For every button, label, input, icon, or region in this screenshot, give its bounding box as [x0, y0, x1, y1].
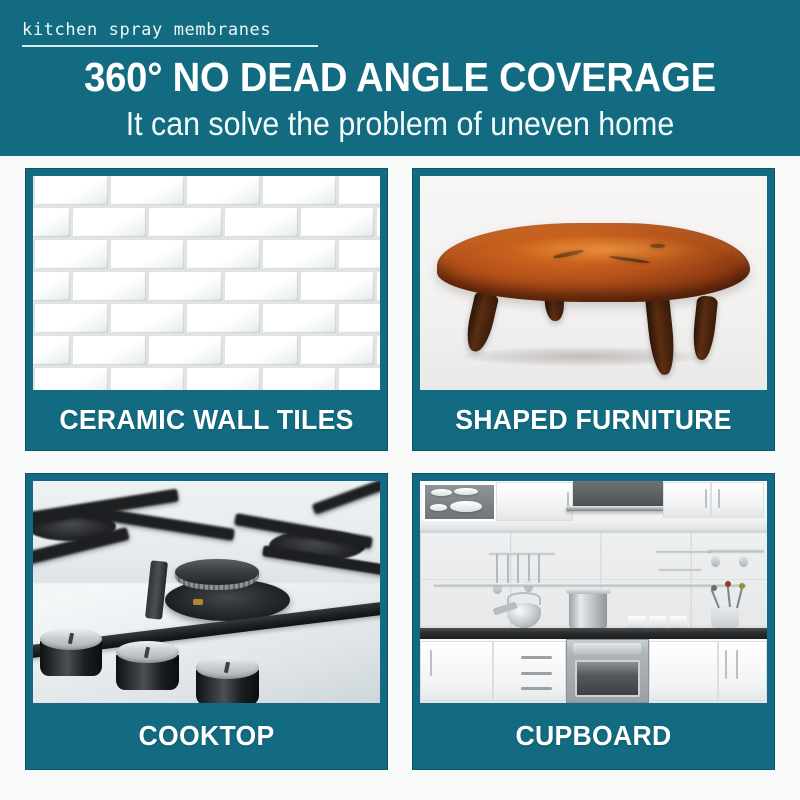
wall-shelf-rail [708, 548, 764, 552]
burner-cap [175, 559, 258, 586]
eyebrow-text: kitchen spray membranes [22, 20, 322, 40]
wood-slab-table-illustration [420, 176, 767, 390]
feature-card-cupboard[interactable]: CUPBOARD [412, 473, 775, 770]
canister [649, 616, 666, 627]
utensil-rail [656, 550, 712, 552]
wood-knot [609, 255, 650, 264]
table-leg [462, 290, 499, 354]
base-cabinet-door [649, 641, 718, 701]
card-image-ceramic-wall-tiles [33, 176, 380, 390]
subway-tile-pattern [33, 176, 380, 390]
stacked-plates [454, 488, 477, 496]
gas-cooktop-illustration [33, 481, 380, 703]
open-shelf [423, 483, 496, 521]
eyebrow-block: kitchen spray membranes [22, 20, 322, 47]
long-wall-rail [434, 583, 746, 586]
countertop [420, 628, 767, 639]
cooktop-knob [116, 641, 178, 690]
kitchen-cupboard-illustration [420, 481, 767, 703]
drawer-handle [521, 687, 552, 690]
live-edge-wood-slab [437, 223, 749, 302]
infographic-page: kitchen spray membranes 360° NO DEAD ANG… [0, 0, 800, 800]
wood-knot [553, 248, 584, 258]
built-in-oven [566, 639, 649, 703]
stacked-bowls [430, 504, 448, 511]
base-drawer-stack [493, 641, 566, 701]
cooktop-knob [40, 628, 102, 677]
wood-knot [650, 244, 666, 248]
header-banner: kitchen spray membranes 360° NO DEAD ANG… [0, 0, 800, 156]
range-hood-lip [566, 506, 670, 512]
utensil-rail [659, 568, 701, 570]
card-image-cupboard [420, 481, 767, 703]
upper-cabinet-door [496, 482, 572, 521]
page-title: 360° NO DEAD ANGLE COVERAGE [28, 54, 772, 100]
cabinet-handle [736, 650, 738, 679]
feature-card-grid: CERAMIC WALL TILES SHAPED FURN [25, 168, 775, 770]
burner-igniter [193, 599, 203, 606]
card-image-shaped-furniture [420, 176, 767, 390]
card-image-cooktop [33, 481, 380, 703]
cooktop-knob [196, 656, 258, 703]
large-bowl [450, 501, 482, 513]
feature-card-ceramic-wall-tiles[interactable]: CERAMIC WALL TILES [25, 168, 388, 451]
eyebrow-underline [22, 45, 318, 47]
kettle-handle [507, 592, 542, 605]
page-subtitle: It can solve the problem of uneven home [32, 104, 768, 144]
table-leg [691, 295, 718, 361]
stacked-plates [431, 489, 452, 496]
oven-control-panel [573, 643, 641, 654]
feature-card-cooktop[interactable]: COOKTOP [25, 473, 388, 770]
upper-cabinet-run [420, 481, 767, 532]
utensil-rail [489, 552, 555, 554]
card-label-shaped-furniture: SHAPED FURNITURE [422, 390, 765, 450]
stock-pot [569, 592, 607, 628]
stock-pot-lid [566, 588, 611, 595]
cabinet-handle [705, 489, 707, 509]
canister [628, 616, 645, 627]
drawer-handle [521, 656, 552, 659]
card-label-cooktop: COOKTOP [35, 703, 378, 769]
card-label-cupboard: CUPBOARD [422, 703, 765, 769]
oven-door-window [575, 660, 640, 697]
drawer-handle [521, 672, 552, 675]
hanging-utensil [507, 554, 509, 585]
hanging-utensil [538, 554, 540, 583]
hanging-utensil [496, 554, 498, 585]
canister [670, 616, 687, 627]
card-label-ceramic-wall-tiles: CERAMIC WALL TILES [35, 390, 378, 450]
hanging-utensil [517, 554, 519, 583]
feature-card-shaped-furniture[interactable]: SHAPED FURNITURE [412, 168, 775, 451]
